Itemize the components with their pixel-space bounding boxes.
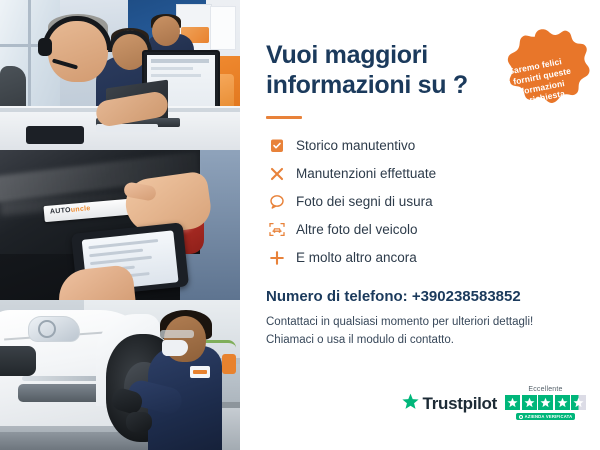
trustpilot-star-icon (402, 393, 419, 415)
verified-business-badge: AZIENDA VERIFICATA (516, 413, 576, 420)
tablet-line-decor (89, 249, 143, 258)
trustpilot-stars (505, 395, 586, 410)
car-grille-decor (0, 346, 36, 376)
crossed-tools-icon (266, 166, 288, 182)
page-title: Vuoi maggiori informazioni su ? (266, 40, 496, 100)
contact-subtext-line-1: Contattaci in qualsiasi momento per ulte… (266, 314, 574, 332)
trustpilot-logo: Trustpilot (402, 393, 497, 420)
headset-earcup-decor (38, 38, 52, 56)
feature-list: Storico manutentivo Manutenzioni effettu… (266, 133, 574, 270)
verified-business-label: AZIENDA VERIFICATA (525, 414, 573, 419)
plus-icon (266, 250, 288, 266)
star-half-icon (571, 395, 586, 410)
list-item-label: Altre foto del veicolo (296, 222, 418, 237)
list-item-label: Storico manutentivo (296, 138, 415, 153)
content-panel: Vuoi maggiori informazioni su ? Storico … (240, 0, 600, 450)
inspector-hand-lower (56, 264, 136, 300)
headline-line-1: Vuoi maggiori (266, 41, 428, 69)
trustpilot-wordmark: Trustpilot (423, 394, 497, 414)
headlight-ring-decor (38, 320, 56, 338)
list-item-label: Manutenzioni effettuate (296, 166, 436, 181)
list-item: Foto dei segni di usura (266, 189, 574, 214)
strip-brand-label: AUTOuncle (50, 205, 91, 216)
speech-bubble-icon (266, 194, 288, 209)
verified-check-icon (519, 415, 523, 419)
trustpilot-rating: Eccellente AZIENDA VERIFICATA (505, 386, 586, 420)
screen-line-decor (151, 59, 209, 63)
contact-info-banner: AUTOuncle (0, 0, 600, 450)
uniform-logo-patch (190, 366, 210, 378)
list-item: Manutenzioni effettuate (266, 161, 574, 186)
list-item: Altre foto del veicolo (266, 217, 574, 242)
car-frame-icon (266, 222, 288, 237)
phone-number-label: Numero di telefono: +390238583852 (266, 288, 574, 305)
title-divider (266, 116, 302, 119)
tablet-on-desk-decor (26, 126, 84, 144)
photo-column: AUTOuncle (0, 0, 240, 450)
agent-3-head (152, 16, 180, 46)
list-item-label: Foto dei segni di usura (296, 194, 433, 209)
screen-line-decor (151, 67, 193, 70)
headline-line-2: informazioni su ? (266, 70, 496, 100)
mechanic-glasses-decor (160, 330, 194, 338)
mechanic-glove-lower (126, 412, 152, 432)
availability-badge: Saremo felici di fornirti queste informa… (482, 26, 594, 138)
tablet-line-decor (88, 239, 158, 249)
orange-tool-decor (222, 354, 236, 374)
mechanic-face-mask-decor (162, 340, 188, 356)
contact-subtext: Contattaci in qualsiasi momento per ulte… (266, 314, 574, 350)
clipboard-check-icon (266, 138, 288, 153)
tablet-line-decor (90, 256, 152, 265)
trustpilot-widget[interactable]: Trustpilot Eccellente AZIENDA VERIFICATA (402, 386, 586, 420)
star-filled-icon (538, 395, 553, 410)
list-item-label: E molto altro ancora (296, 250, 417, 265)
vehicle-inspection-strip-photo: AUTOuncle (0, 150, 240, 300)
call-center-agents-photo (0, 0, 240, 150)
list-item: E molto altro ancora (266, 245, 574, 270)
star-filled-icon (505, 395, 520, 410)
contact-subtext-line-2: Chiamaci o usa il modulo di contatto. (266, 332, 574, 350)
trustpilot-rating-label: Eccellente (528, 386, 562, 393)
badge-text: Saremo felici di fornirti queste informa… (500, 55, 576, 111)
mechanic-wheel-photo (0, 300, 240, 450)
wall-document-decor (210, 6, 236, 50)
screen-line-decor (151, 74, 201, 77)
star-filled-icon (522, 395, 537, 410)
star-filled-icon (555, 395, 570, 410)
